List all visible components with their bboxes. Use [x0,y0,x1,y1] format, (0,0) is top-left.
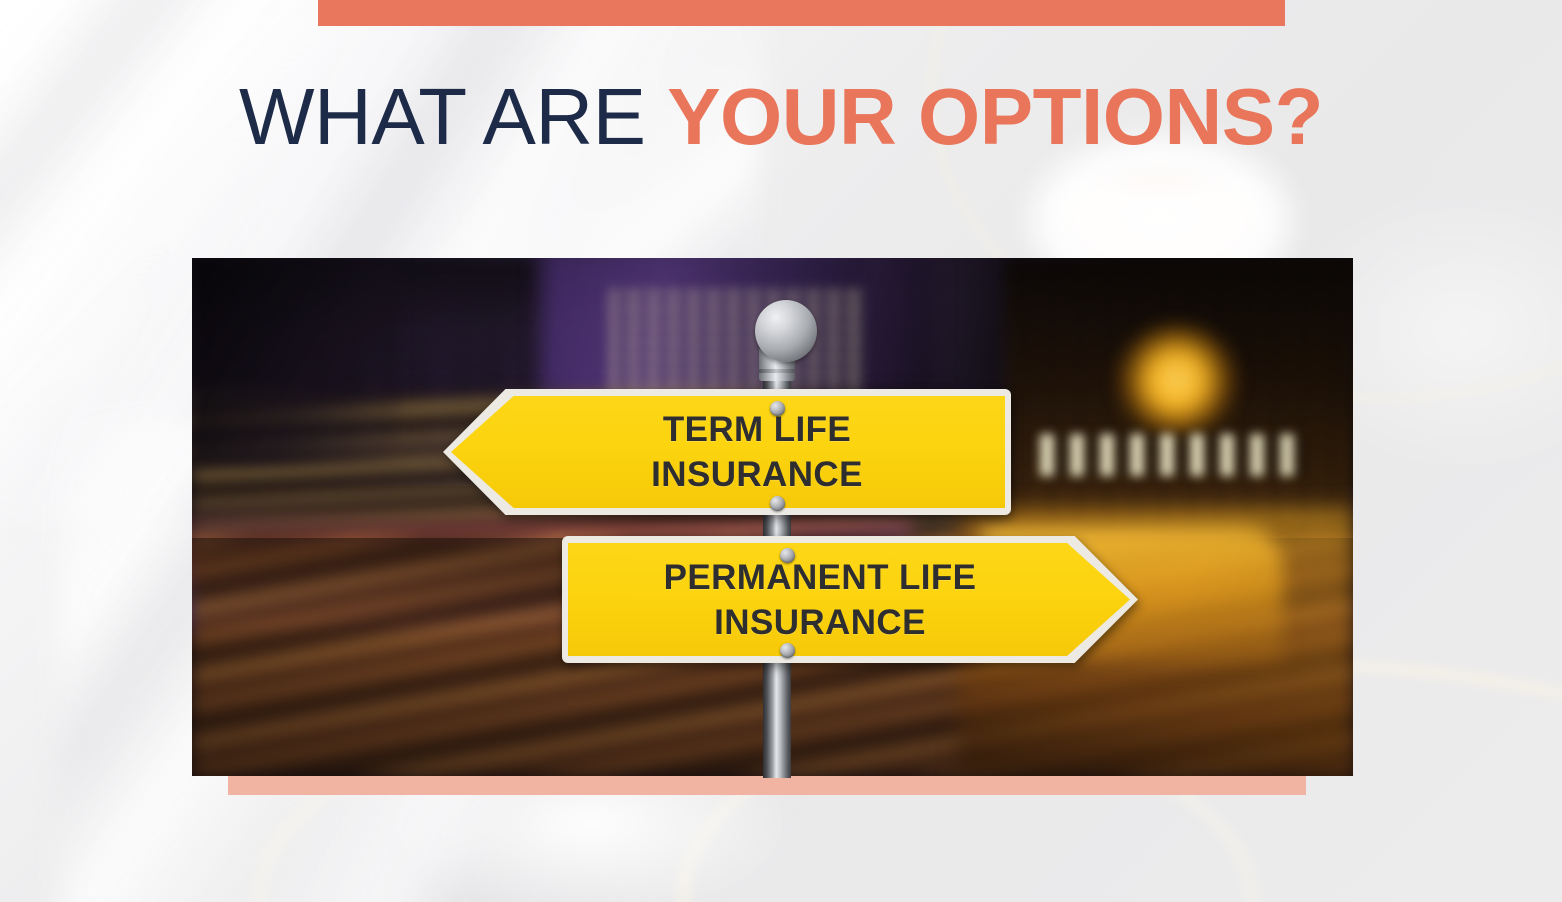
page-title: WHAT ARE YOUR OPTIONS? [0,68,1562,166]
sign-permanent-life-insurance[interactable]: PERMANENT LIFE INSURANCE [562,536,1138,663]
sign-face: PERMANENT LIFE INSURANCE [568,543,1130,656]
sign-bolt-icon [780,548,795,563]
sign-face: TERM LIFE INSURANCE [451,396,1005,508]
sign-label-term-life: TERM LIFE INSURANCE [593,407,863,497]
signpost-ball-finial [755,300,817,362]
signpost-collar-seam [759,369,795,373]
sign-border-plate: TERM LIFE INSURANCE [443,389,1011,515]
title-part-bold: YOUR OPTIONS? [667,72,1323,161]
title-part-light: WHAT ARE [239,72,667,161]
sign-label-permanent-life: PERMANENT LIFE INSURANCE [664,555,1035,645]
slide-canvas: WHAT ARE YOUR OPTIONS? TERM LIFE INSURAN… [0,0,1562,902]
sign-bolt-icon [770,401,785,416]
sign-border-plate: PERMANENT LIFE INSURANCE [562,536,1138,663]
sign-bolt-icon [770,496,785,511]
accent-bar-top [318,0,1285,26]
sign-bolt-icon [780,643,795,658]
accent-bar-bottom [228,775,1306,795]
sign-term-life-insurance[interactable]: TERM LIFE INSURANCE [443,389,1011,515]
